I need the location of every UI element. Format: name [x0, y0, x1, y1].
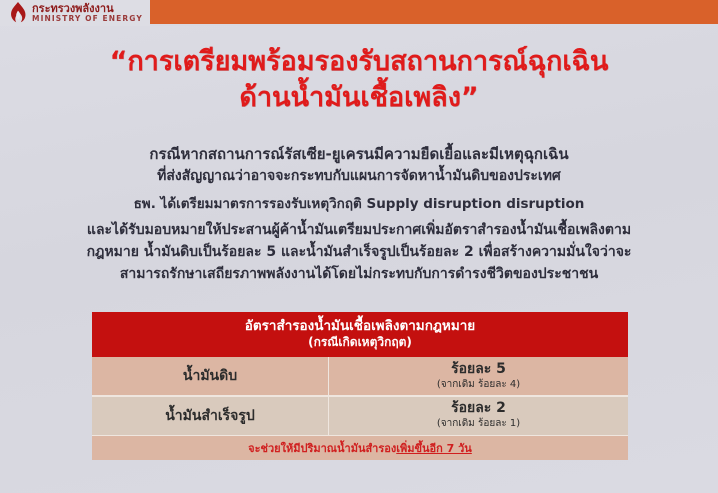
footer-note-highlight: เพิ่มขึ้นอีก 7 วัน: [396, 439, 472, 457]
ministry-brand: กระทรวงพลังงาน MINISTRY OF ENERGY: [0, 0, 150, 26]
header-accent-bar: [148, 0, 718, 24]
page-header: กระทรวงพลังงาน MINISTRY OF ENERGY: [0, 0, 718, 26]
brand-text: กระทรวงพลังงาน MINISTRY OF ENERGY: [32, 3, 143, 23]
brand-thai-label: กระทรวงพลังงาน: [32, 3, 143, 14]
reserve-value: ร้อยละ 2: [451, 401, 506, 416]
body-line-3: ธพ. ได้เตรียมมาตรการรองรับเหตุวิกฤติ Sup…: [0, 193, 718, 215]
flame-icon: [8, 1, 28, 25]
reserve-rate-table: อัตราสำรองน้ำมันเชื้อเพลิงตามกฎหมาย (กรณ…: [92, 312, 628, 460]
table-cell-label: น้ำมันสำเร็จรูป: [92, 397, 329, 435]
slide-body: กรณีหากสถานการณ์รัสเซีย-ยูเครนมีความยืดเ…: [0, 143, 718, 285]
slide-title: “การเตรียมพร้อมรองรับสถานการณ์ฉุกเฉิน ด้…: [0, 44, 718, 116]
slide-title-line-2: ด้านน้ำมันเชื้อเพลิง”: [0, 80, 718, 116]
body-line-1: กรณีหากสถานการณ์รัสเซีย-ยูเครนมีความยืดเ…: [0, 143, 718, 165]
table-header: อัตราสำรองน้ำมันเชื้อเพลิงตามกฎหมาย (กรณ…: [92, 312, 628, 357]
footer-note-prefix: จะช่วยให้มีปริมาณน้ำมันสำรอง: [248, 439, 396, 457]
table-cell-value: ร้อยละ 2 (จากเดิม ร้อยละ 1): [329, 397, 628, 435]
brand-english-label: MINISTRY OF ENERGY: [32, 15, 143, 23]
reserve-value: ร้อยละ 5: [451, 362, 506, 377]
table-header-line-2: (กรณีเกิดเหตุวิกฤต): [92, 334, 628, 350]
body-line-4: และได้รับมอบหมายให้ประสานผู้ค้าน้ำมันเตร…: [0, 219, 718, 241]
table-cell-value: ร้อยละ 5 (จากเดิม ร้อยละ 4): [329, 357, 628, 395]
reserve-previous: (จากเดิม ร้อยละ 1): [437, 417, 520, 430]
table-cell-label: น้ำมันดิบ: [92, 357, 329, 395]
table-header-line-1: อัตราสำรองน้ำมันเชื้อเพลิงตามกฎหมาย: [92, 318, 628, 334]
body-line-5: กฎหมาย น้ำมันดิบเป็นร้อยละ 5 และน้ำมันสำ…: [0, 241, 718, 263]
slide-title-line-1: “การเตรียมพร้อมรองรับสถานการณ์ฉุกเฉิน: [0, 44, 718, 80]
reserve-previous: (จากเดิม ร้อยละ 4): [437, 378, 520, 391]
table-row: น้ำมันสำเร็จรูป ร้อยละ 2 (จากเดิม ร้อยละ…: [92, 397, 628, 435]
body-line-6: สามารถรักษาเสถียรภาพพลังงานได้โดยไม่กระท…: [0, 263, 718, 285]
body-line-2: ที่ส่งสัญญาณว่าอาจจะกระทบกับแผนการจัดหาน…: [0, 165, 718, 187]
table-footer-note: จะช่วยให้มีปริมาณน้ำมันสำรองเพิ่มขึ้นอีก…: [92, 436, 628, 460]
table-row: น้ำมันดิบ ร้อยละ 5 (จากเดิม ร้อยละ 4): [92, 357, 628, 395]
